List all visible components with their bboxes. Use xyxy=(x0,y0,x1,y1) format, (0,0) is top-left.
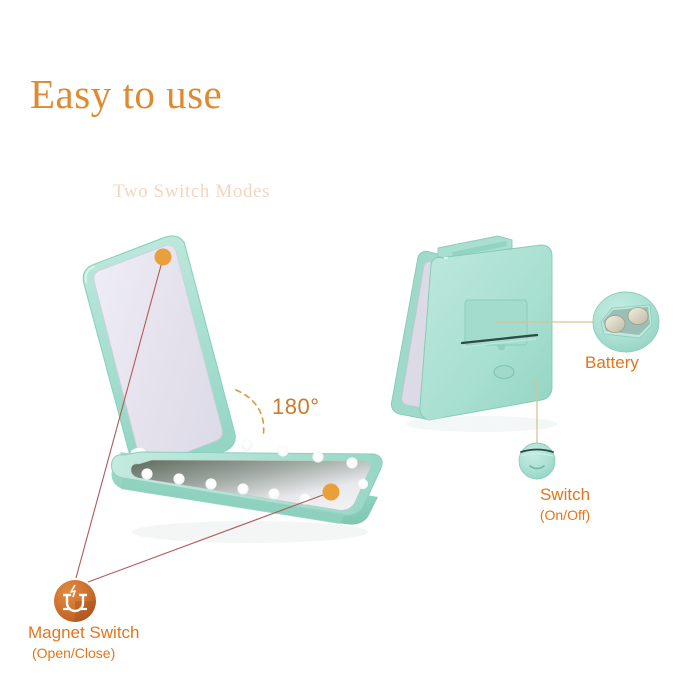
switch-sublabel: (On/Off) xyxy=(505,507,625,524)
marker-dot-base xyxy=(323,484,340,501)
angle-arc xyxy=(236,390,264,438)
magnet-switch-label: Magnet Switch xyxy=(28,623,208,643)
switch-callout-inset xyxy=(519,443,555,479)
switch-label: Switch xyxy=(505,485,625,505)
battery-callout-inset xyxy=(593,292,659,352)
marker-dot-lid xyxy=(155,249,172,266)
switch-callout[interactable]: Switch (On/Off) xyxy=(505,485,625,522)
left-product-open-mirror xyxy=(79,231,393,543)
angle-label: 180° xyxy=(272,394,320,420)
magnet-switch-sublabel: (Open/Close) xyxy=(32,645,212,662)
coin-cell-right xyxy=(628,308,648,325)
infographic-page: Easy to use Two Switch Modes xyxy=(0,0,679,679)
magnet-badge xyxy=(54,580,96,622)
battery-label: Battery xyxy=(585,353,679,373)
battery-callout[interactable]: Battery xyxy=(585,353,679,373)
power-switch-button xyxy=(494,366,514,379)
front-back-cover-panel xyxy=(420,245,552,420)
magnet-switch-callout[interactable]: Magnet Switch (Open/Close) xyxy=(28,623,208,660)
coin-cell-left xyxy=(605,316,625,333)
right-product-folded-mirror xyxy=(391,236,558,432)
product-illustration xyxy=(0,0,679,679)
